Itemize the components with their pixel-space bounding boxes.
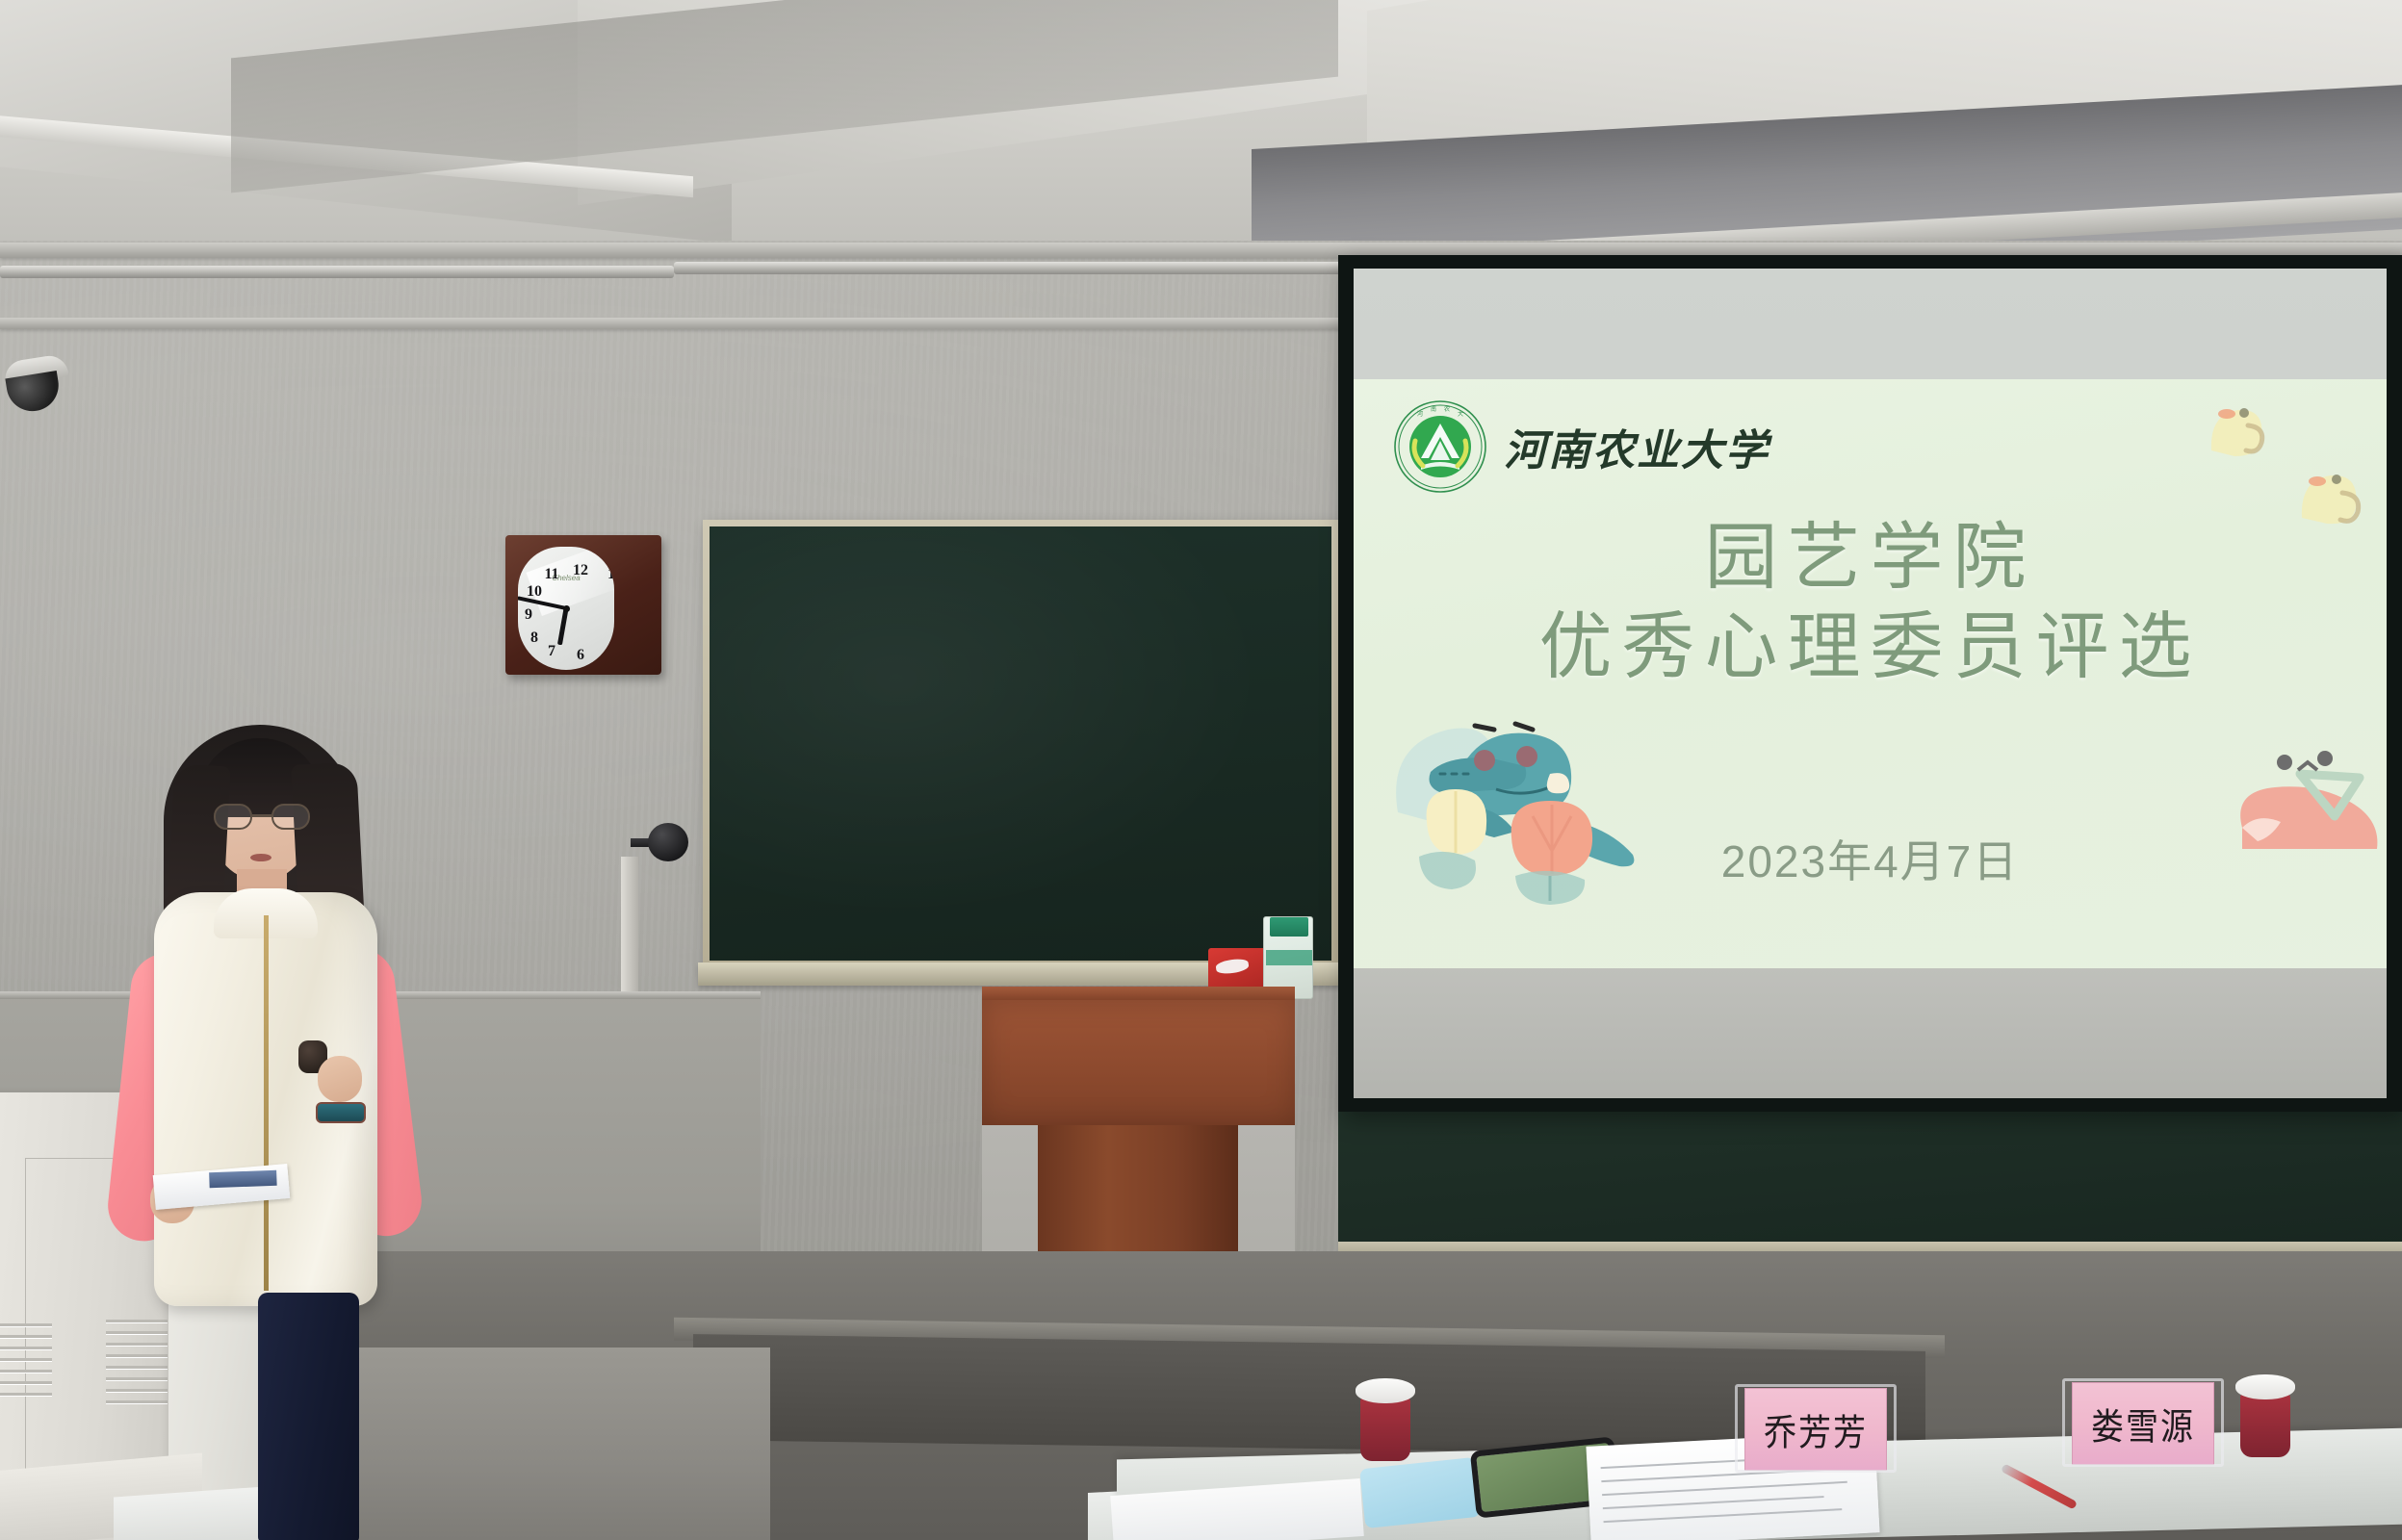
clock-numeral-1: 1 xyxy=(603,566,614,583)
glasses-bridge xyxy=(252,814,271,817)
university-emblem-icon: 河南 农大 xyxy=(1392,398,1488,495)
cabinet-vent xyxy=(0,1358,52,1361)
cabinet-vent xyxy=(0,1335,52,1338)
cabinet-vent xyxy=(0,1370,52,1373)
podium-front-panel xyxy=(982,1000,1295,1125)
slide-title: 园艺学院 优秀心理委员评选 xyxy=(1354,514,2387,692)
projection-screen: 河南 农大 河南农业大学 xyxy=(1338,255,2402,1112)
svg-text:大: 大 xyxy=(1458,410,1463,418)
wall-rail-mid xyxy=(0,318,1348,329)
microphone-head xyxy=(648,823,688,861)
frog-illustration xyxy=(1381,697,1698,957)
slide-logo-row: 河南 农大 河南农业大学 xyxy=(1392,398,1769,495)
vest-zipper xyxy=(264,915,269,1291)
cup-body xyxy=(1360,1398,1410,1461)
clock-numeral-8: 8 xyxy=(526,629,543,647)
document-line xyxy=(1602,1481,1847,1496)
cabinet-vent xyxy=(0,1323,52,1326)
name-card-sheet: 娄雪源 xyxy=(2072,1382,2214,1465)
clock-numeral-7: 7 xyxy=(543,643,560,660)
face-mask xyxy=(1359,1457,1481,1528)
glasses-lens-right xyxy=(271,804,310,830)
chalk-box-cap xyxy=(1270,917,1308,937)
classroom-photo-scene: Chelsea 12 1 2 3 4 5 6 7 8 9 10 11 xyxy=(0,0,2402,1540)
camera-dome-lens xyxy=(5,371,62,415)
paper-coffee-cup-left xyxy=(1356,1378,1415,1463)
svg-text:农: 农 xyxy=(1444,405,1450,413)
clock-hour-hand xyxy=(557,608,569,645)
presentation-slide: 河南 农大 河南农业大学 xyxy=(1354,379,2387,995)
cup-rim xyxy=(2235,1374,2295,1399)
clock-numeral-12: 12 xyxy=(572,562,589,579)
name-card-sheet: 乔芳芳 xyxy=(1744,1388,1887,1471)
cabinet-vent xyxy=(0,1393,52,1396)
wristwatch xyxy=(316,1102,366,1123)
pig-illustration xyxy=(2204,745,2387,860)
presenter-hand-right xyxy=(318,1056,362,1102)
clock-numeral-9: 9 xyxy=(520,606,537,624)
clock-center-pin xyxy=(563,605,570,612)
chick-illustration-1 xyxy=(2206,400,2283,467)
cup-body xyxy=(2240,1394,2290,1457)
university-name-text: 河南农业大学 xyxy=(1504,416,1769,477)
cabinet-vent xyxy=(0,1381,52,1384)
gooseneck-microphone xyxy=(631,823,688,863)
clock-face: Chelsea 12 1 2 3 4 5 6 7 8 9 10 11 xyxy=(518,547,614,670)
screen-lower-band xyxy=(1354,968,2387,1098)
clock-numeral-5: 5 xyxy=(603,643,614,660)
tissue-box-label xyxy=(1215,958,1250,976)
name-card-lou-xueyuan: 娄雪源 xyxy=(2062,1378,2224,1467)
presenter-speaker xyxy=(114,717,431,1540)
wall-clock: Chelsea 12 1 2 3 4 5 6 7 8 9 10 11 xyxy=(505,535,661,675)
document-line xyxy=(1604,1508,1843,1523)
cup-rim xyxy=(1356,1378,1415,1403)
name-card-text: 乔芳芳 xyxy=(1764,1403,1868,1456)
electrical-conduit-left xyxy=(0,266,674,278)
presenter-trousers xyxy=(258,1293,359,1540)
svg-text:南: 南 xyxy=(1431,405,1436,413)
document-line xyxy=(1603,1496,1824,1509)
electrical-conduit-right xyxy=(674,262,1367,274)
name-card-text: 娄雪源 xyxy=(2091,1398,2195,1450)
clock-numeral-6: 6 xyxy=(572,647,589,664)
name-card-qiao-fangfang: 乔芳芳 xyxy=(1735,1384,1897,1473)
microphone-pole xyxy=(621,857,638,991)
svg-text:河: 河 xyxy=(1417,410,1423,418)
blackboard xyxy=(710,526,1331,961)
paper-coffee-cup-right xyxy=(2235,1374,2295,1459)
cabinet-vent xyxy=(0,1347,52,1349)
glasses-lens-left xyxy=(214,804,252,830)
dome-security-camera xyxy=(4,358,67,412)
blackboard-frame xyxy=(703,520,1338,967)
chalk-box-label xyxy=(1266,950,1312,965)
round-glasses-icon xyxy=(214,804,310,831)
clock-numeral-11: 11 xyxy=(543,566,560,583)
presenter-mouth xyxy=(250,854,271,861)
screen-surface: 河南 农大 河南农业大学 xyxy=(1354,269,2387,1098)
notes-blue-sheet xyxy=(209,1170,277,1188)
slide-title-line2: 优秀心理委员评选 xyxy=(1354,603,2387,693)
slide-title-line1: 园艺学院 xyxy=(1354,514,2387,603)
